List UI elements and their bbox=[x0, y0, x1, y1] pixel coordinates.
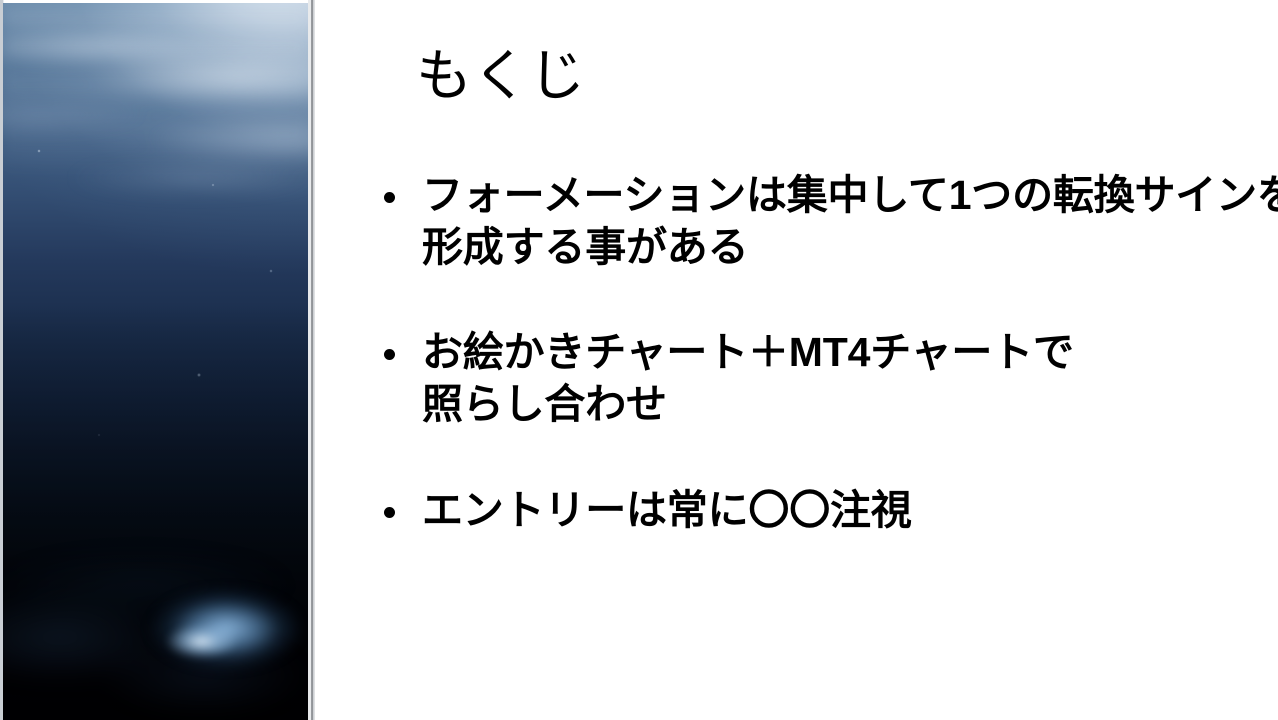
list-item: エントリーは常に〇〇注視 bbox=[346, 485, 1276, 537]
slide-content-area: もくじ フォーメーションは集中して1つの転換サインを 形成する事がある お絵かき… bbox=[316, 0, 1278, 720]
page-title: もくじ bbox=[416, 44, 586, 108]
presentation-slide: もくじ フォーメーションは集中して1つの転換サインを 形成する事がある お絵かき… bbox=[0, 0, 1278, 720]
picture-edge-shadow bbox=[308, 0, 316, 720]
photo-glow-core bbox=[162, 623, 241, 660]
bullet-line: 形成する事がある bbox=[422, 222, 1276, 274]
list-item: お絵かきチャート＋MT4チャートで 照らし合わせ bbox=[346, 327, 1276, 430]
bullet-line: エントリーは常に〇〇注視 bbox=[422, 485, 1276, 537]
list-item: フォーメーションは集中して1つの転換サインを 形成する事がある bbox=[346, 170, 1276, 273]
bullet-line: 照らし合わせ bbox=[422, 379, 1276, 431]
bullet-dot-icon bbox=[384, 349, 395, 360]
underwater-ocean-photo bbox=[3, 3, 308, 720]
bullet-list: フォーメーションは集中して1つの転換サインを 形成する事がある お絵かきチャート… bbox=[346, 170, 1276, 536]
bullet-line: フォーメーションは集中して1つの転換サインを bbox=[422, 170, 1276, 222]
bullet-line: お絵かきチャート＋MT4チャートで bbox=[422, 327, 1276, 379]
bullet-dot-icon bbox=[384, 192, 395, 203]
picture-panel bbox=[0, 0, 316, 720]
bullet-dot-icon bbox=[384, 507, 395, 518]
